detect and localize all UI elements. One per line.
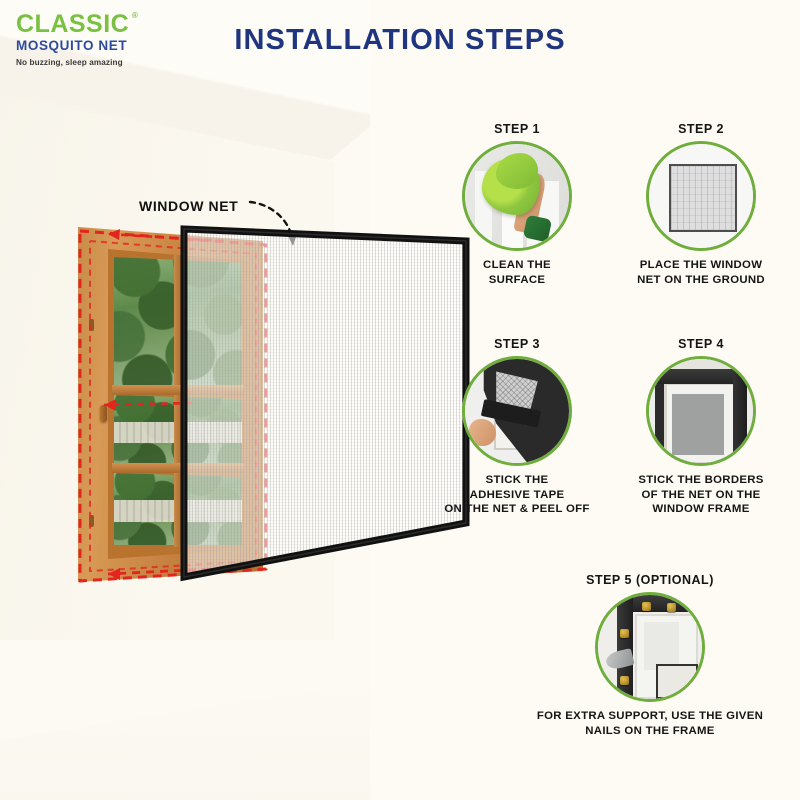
gold-nail-icon-3 <box>620 629 629 638</box>
step-2-image <box>646 141 756 251</box>
step-3-title: STEP 3 <box>432 337 602 351</box>
green-cloth-fold-icon <box>496 153 538 188</box>
step-card-1: STEP 1 CLEAN THE SURFACE <box>432 122 602 287</box>
step-3-caption: STICK THE ADHESIVE TAPE ON THE NET & PEE… <box>432 473 602 517</box>
step-card-3: STEP 3 STICK THE ADHESIVE TAPE ON THE NE… <box>432 337 602 517</box>
step-4-caption-line-1: STICK THE BORDERS <box>616 473 786 488</box>
gold-nail-icon-4 <box>620 676 629 685</box>
step-3-caption-line-1: STICK THE <box>432 473 602 488</box>
step-1-caption: CLEAN THE SURFACE <box>432 258 602 287</box>
step-1-title: STEP 1 <box>432 122 602 136</box>
step-card-5: STEP 5 (OPTIONAL) FOR EXTRA SUPPORT, USE… <box>520 573 780 738</box>
step-2-caption-line-1: PLACE THE WINDOW <box>616 258 786 273</box>
window-net-illustration <box>70 225 430 595</box>
step-2-caption-line-2: NET ON THE GROUND <box>616 273 786 288</box>
net-border-side <box>733 369 747 461</box>
step-4-image <box>646 356 756 466</box>
step-5-caption-line-2: NAILS ON THE FRAME <box>520 724 780 739</box>
step-4-caption-line-3: WINDOW FRAME <box>616 502 786 517</box>
glass-panel-gray <box>672 394 724 454</box>
window-net-label: WINDOW NET <box>139 198 238 214</box>
hand-peeling-icon <box>469 419 496 446</box>
page-title: INSTALLATION STEPS <box>0 24 800 57</box>
step-1-image <box>462 141 572 251</box>
gold-nail-icon-1 <box>642 602 651 611</box>
step-5-title: STEP 5 (OPTIONAL) <box>520 573 780 587</box>
installation-steps-poster: CLASSIC ® MOSQUITO NET No buzzing, sleep… <box>0 0 800 800</box>
step-5-caption: FOR EXTRA SUPPORT, USE THE GIVEN NAILS O… <box>520 709 780 738</box>
step-5-image <box>595 592 705 702</box>
gold-nail-icon-2 <box>667 603 676 612</box>
step-1-caption-line-1: CLEAN THE <box>432 258 602 273</box>
step-4-title: STEP 4 <box>616 337 786 351</box>
window-hinge-bottom <box>89 515 94 527</box>
step-2-title: STEP 2 <box>616 122 786 136</box>
step-4-caption: STICK THE BORDERS OF THE NET ON THE WIND… <box>616 473 786 517</box>
step-5-caption-line-1: FOR EXTRA SUPPORT, USE THE GIVEN <box>520 709 780 724</box>
step-4-caption-line-2: OF THE NET ON THE <box>616 488 786 503</box>
window-lower-panel-5 <box>656 664 697 699</box>
step-3-caption-line-3: ON THE NET & PEEL OFF <box>432 502 602 517</box>
green-sleeve-cuff <box>523 214 552 242</box>
window-hinge-top <box>89 319 94 331</box>
step-card-4: STEP 4 STICK THE BORDERS OF THE NET ON T… <box>616 337 786 517</box>
step-2-caption: PLACE THE WINDOW NET ON THE GROUND <box>616 258 786 287</box>
brand-tagline: No buzzing, sleep amazing <box>16 58 156 67</box>
step-1-caption-line-2: SURFACE <box>432 273 602 288</box>
step-card-2: STEP 2 PLACE THE WINDOW NET ON THE GROUN… <box>616 122 786 287</box>
gray-mesh-square-icon <box>669 164 737 232</box>
registered-mark-icon: ® <box>132 12 138 20</box>
step-3-image <box>462 356 572 466</box>
step-3-caption-line-2: ADHESIVE TAPE <box>432 488 602 503</box>
window-handle[interactable] <box>100 405 107 422</box>
mosquito-net-panel <box>180 223 470 583</box>
